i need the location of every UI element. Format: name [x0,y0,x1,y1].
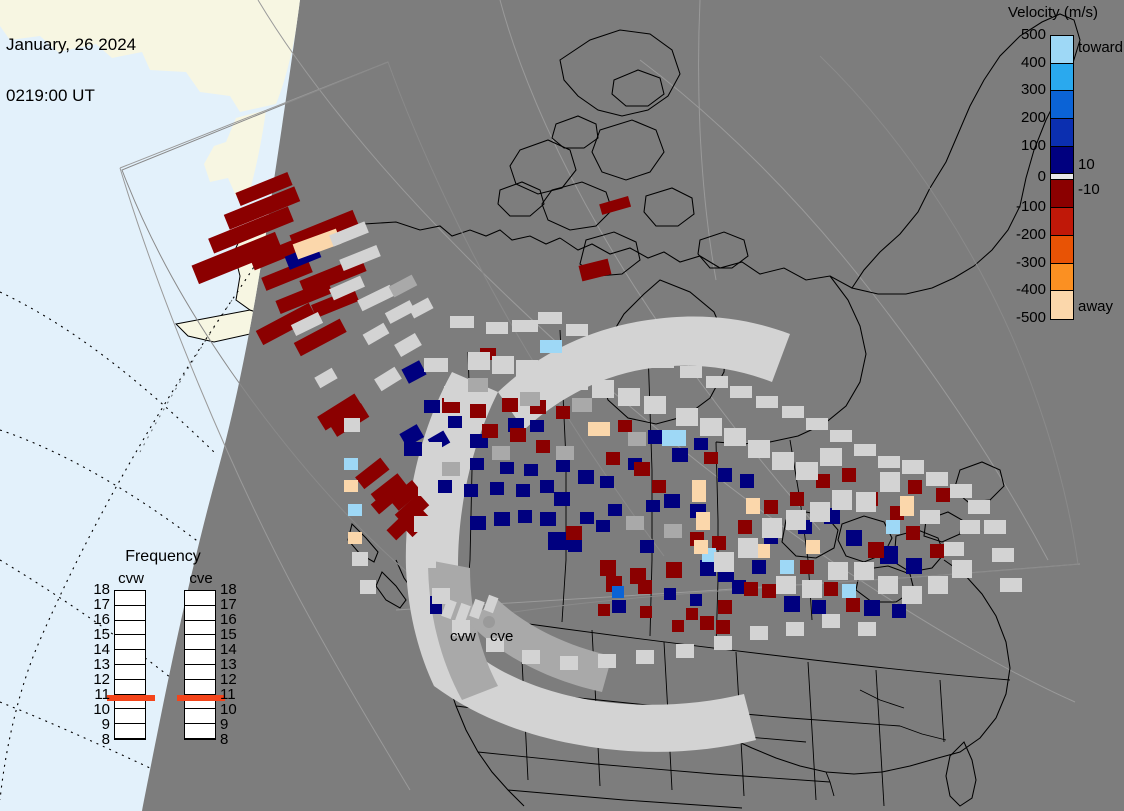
frequency-column-name-cvw: cvw [114,570,148,587]
frequency-scale-cvw [114,590,146,740]
site-label-cvw: cvw [450,628,476,645]
colorbar-segment--250 [1051,236,1073,264]
timestamp-date: January, 26 2024 [6,36,136,53]
colorbar-tick-200: 200 [1021,109,1046,126]
colorbar-tick--500: -500 [1016,309,1046,326]
colorbar-tick--200: -200 [1016,226,1046,243]
frequency-tick-left-10: 10 [88,705,110,715]
colorbar-tick-300: 300 [1021,81,1046,98]
colorbar-segment-50 [1051,147,1073,175]
frequency-row [185,621,215,636]
frequency-marker-cvw [107,695,155,701]
frequency-tick-right-11: 11 [220,690,236,700]
frequency-tick-left-9: 9 [88,720,110,730]
velocity-colorbar: Velocity (m/s) 5004003002001000-100-200-… [1004,0,1124,330]
frequency-row [185,709,215,724]
frequency-row [185,680,215,695]
frequency-row [115,650,145,665]
frequency-tick-left-14: 14 [88,645,110,655]
frequency-tick-left-8: 8 [88,735,110,745]
frequency-tick-right-13: 13 [220,660,237,670]
colorbar-tick-0: 0 [1038,168,1046,185]
colorbar-tick-500: 500 [1021,26,1046,43]
frequency-column-cvw: cvw [114,570,148,740]
colorbar-zero-upper-label: 10 [1078,156,1095,173]
frequency-tick-left-16: 16 [88,615,110,625]
frequency-tick-right-14: 14 [220,645,237,655]
frequency-row [185,665,215,680]
colorbar-title: Velocity (m/s) [982,4,1124,21]
frequency-row [115,665,145,680]
frequency-tick-right-8: 8 [220,735,228,745]
colorbar-tick-400: 400 [1021,54,1046,71]
radar-map-screenshot: January, 26 2024 0219:00 UT cvw cve Velo… [0,0,1124,811]
frequency-row [115,680,145,695]
colorbar-strip [1050,35,1074,320]
frequency-tick-right-15: 15 [220,630,237,640]
frequency-scale-cve [184,590,216,740]
frequency-row [185,606,215,621]
radar-site-marker [483,616,495,628]
frequency-tick-right-10: 10 [220,705,237,715]
frequency-column-cve: cve [184,570,218,740]
timestamp-block: January, 26 2024 0219:00 UT [6,2,136,138]
colorbar-segment--150 [1051,208,1073,236]
frequency-tick-right-18: 18 [220,585,237,595]
frequency-title: Frequency [88,548,238,566]
frequency-tick-left-11: 11 [88,690,110,700]
frequency-row [185,635,215,650]
colorbar-segment-150 [1051,119,1073,147]
frequency-tick-left-13: 13 [88,660,110,670]
colorbar-toward-label: toward [1078,39,1123,56]
frequency-tick-left-17: 17 [88,600,110,610]
frequency-tick-left-12: 12 [88,675,110,685]
colorbar-segment--450 [1051,291,1073,319]
colorbar-tick--300: -300 [1016,254,1046,271]
colorbar-tick--100: -100 [1016,198,1046,215]
colorbar-tick--400: -400 [1016,281,1046,298]
frequency-legend: Frequency cvwcve181817171616151514141313… [88,548,238,788]
frequency-row [185,724,215,739]
frequency-row [115,709,145,724]
frequency-row [115,606,145,621]
frequency-marker-cve [177,695,225,701]
timestamp-time: 0219:00 UT [6,87,136,104]
colorbar-segment--350 [1051,264,1073,292]
frequency-row [185,650,215,665]
colorbar-zero-lower-label: -10 [1078,181,1100,198]
frequency-row [185,591,215,606]
frequency-column-name-cve: cve [184,570,218,587]
frequency-tick-left-15: 15 [88,630,110,640]
frequency-row [115,724,145,739]
colorbar-tick-100: 100 [1021,137,1046,154]
colorbar-segment--50 [1051,180,1073,208]
colorbar-segment-350 [1051,64,1073,92]
frequency-tick-right-17: 17 [220,600,237,610]
colorbar-away-label: away [1078,298,1113,315]
colorbar-segment-250 [1051,91,1073,119]
frequency-tick-right-12: 12 [220,675,237,685]
frequency-tick-left-18: 18 [88,585,110,595]
frequency-row [115,591,145,606]
site-label-cve: cve [490,628,513,645]
frequency-tick-right-9: 9 [220,720,228,730]
frequency-row [115,621,145,636]
frequency-row [115,635,145,650]
colorbar-segment-450 [1051,36,1073,64]
frequency-tick-right-16: 16 [220,615,237,625]
